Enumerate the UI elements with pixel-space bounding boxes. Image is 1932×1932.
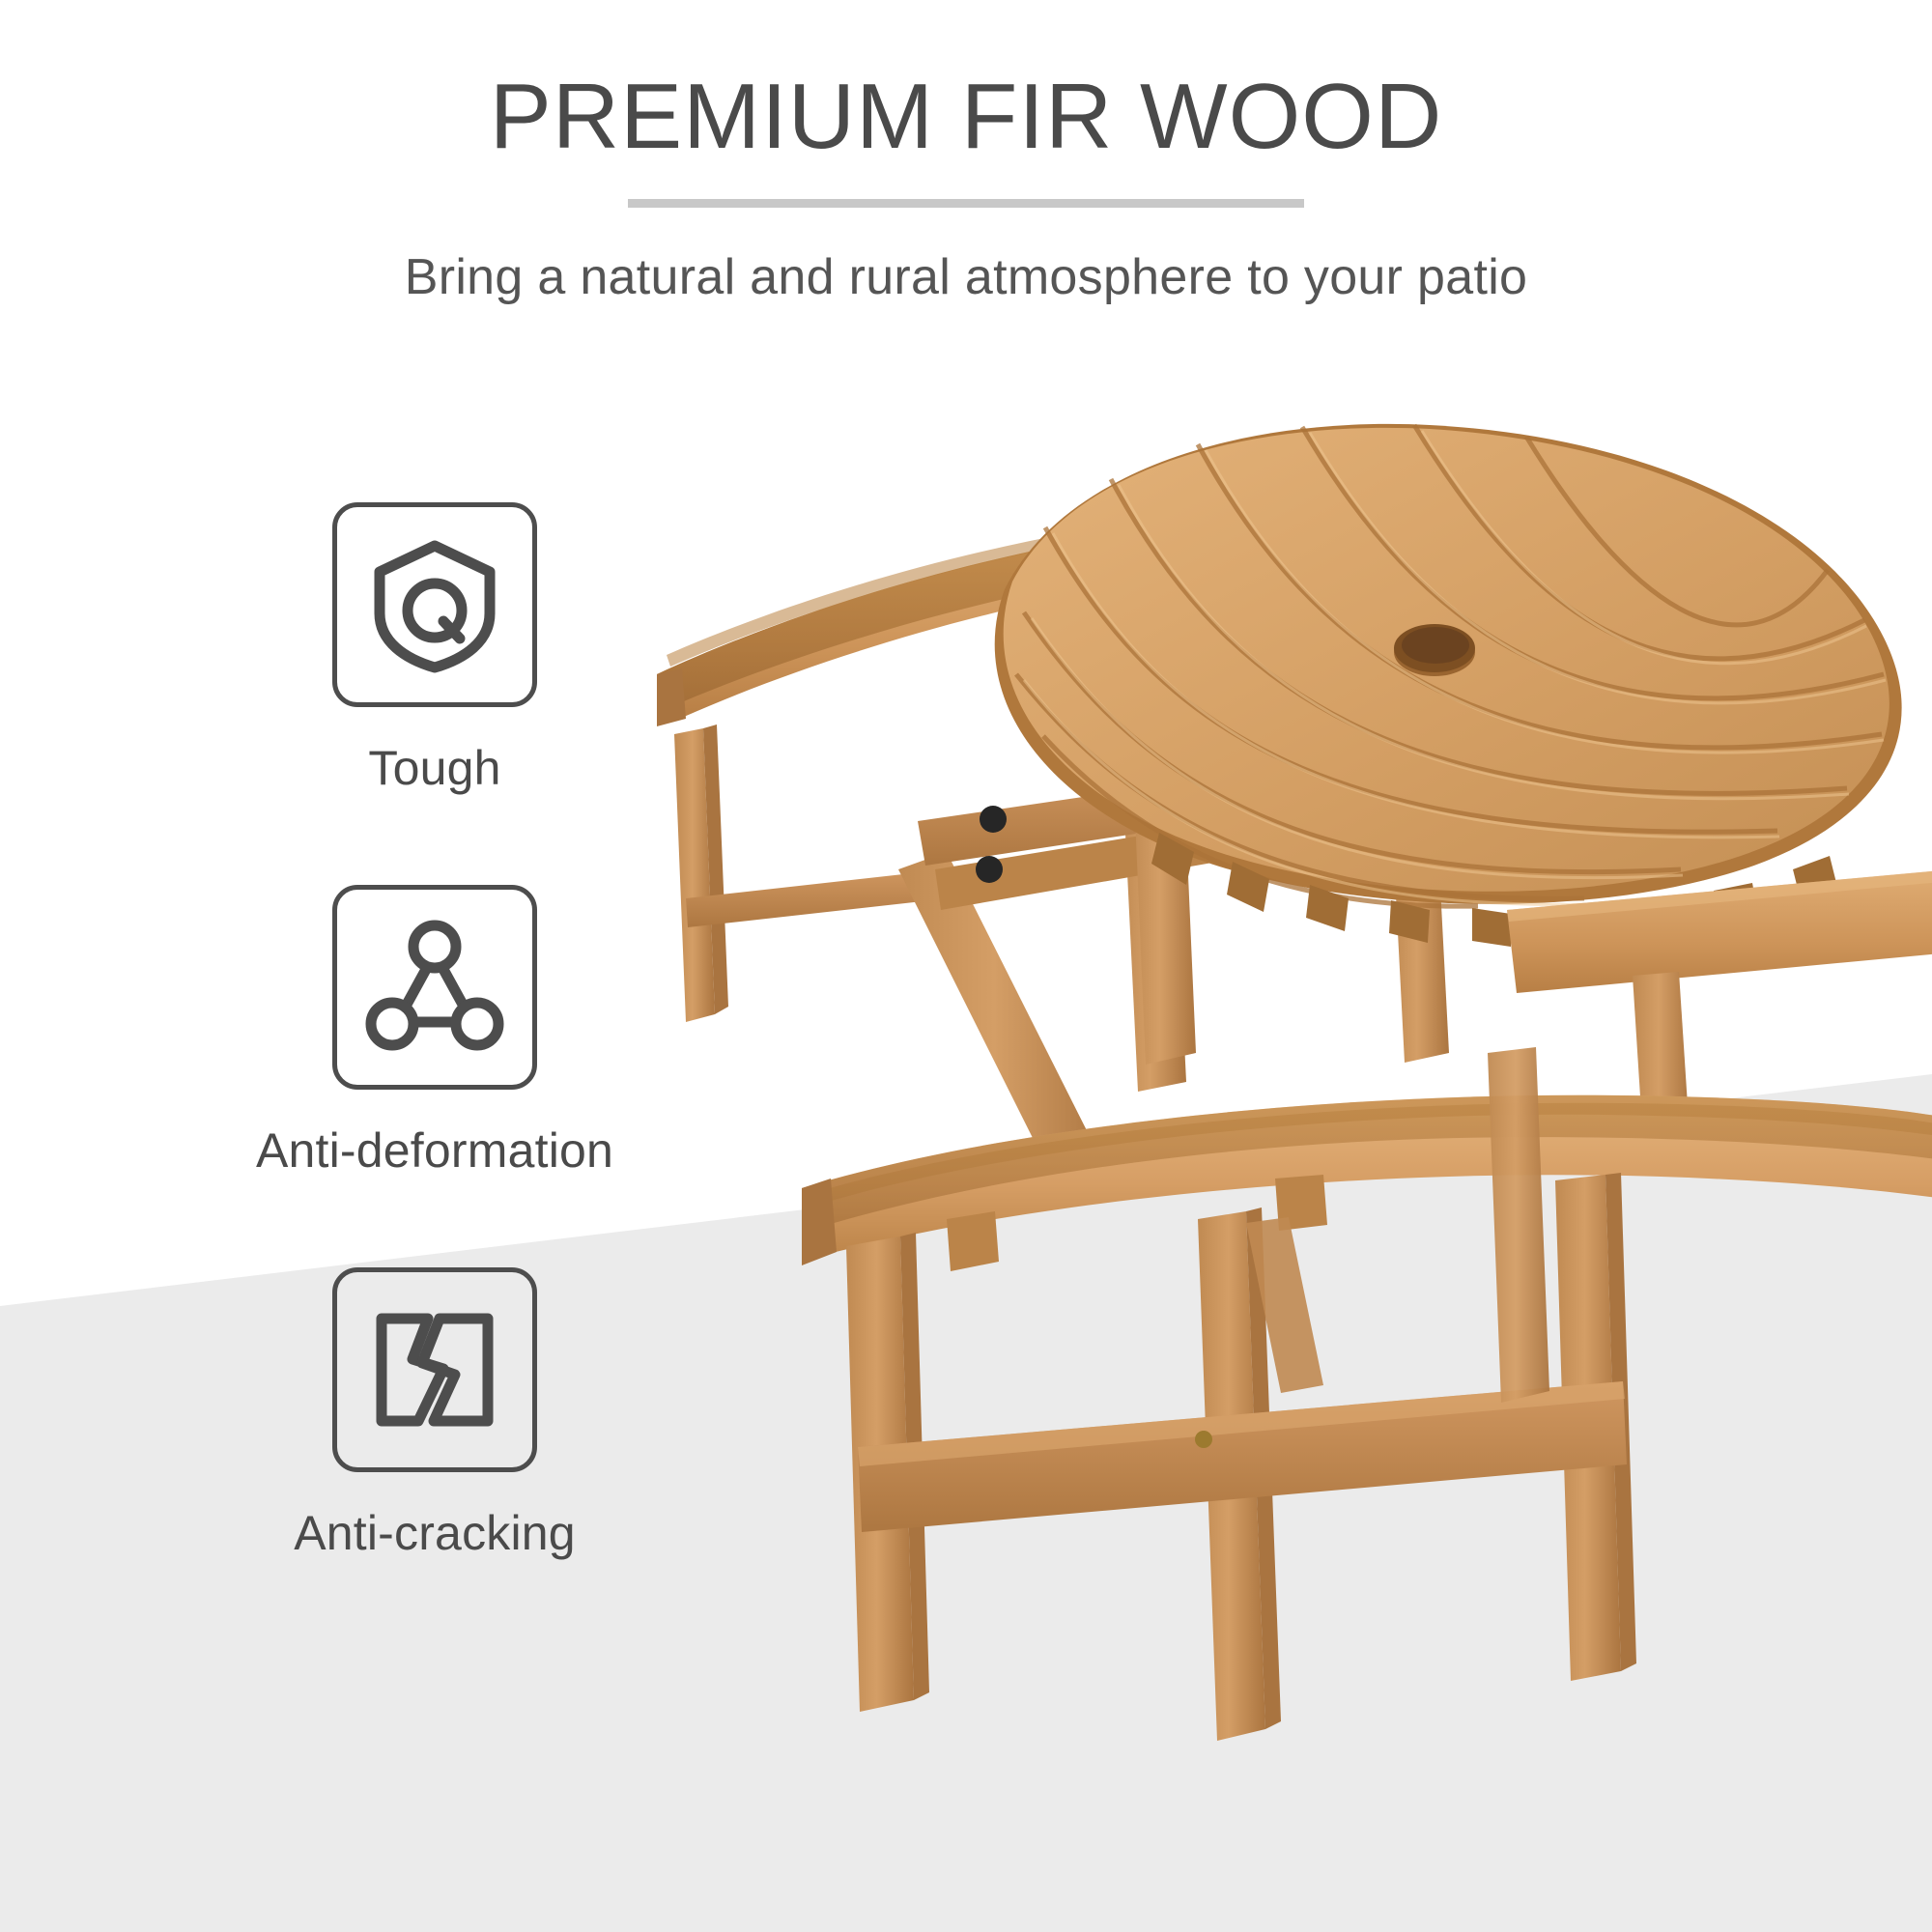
feature-label: Anti-deformation [135,1122,734,1179]
feature-list: Tough Anti-deformation [135,502,734,1650]
triangle-nodes-icon [362,915,507,1060]
feature-item-tough: Tough [135,502,734,796]
screw-head [1195,1431,1212,1448]
feature-label: Tough [135,740,734,796]
bolt-head [976,856,1003,883]
bolt-head [980,806,1007,833]
infographic-canvas: PREMIUM FIR WOOD Bring a natural and rur… [0,0,1932,1932]
feature-item-anti-cracking: Anti-cracking [135,1267,734,1561]
header: PREMIUM FIR WOOD Bring a natural and rur… [0,0,1932,306]
product-image-picnic-table [657,415,1932,1787]
feature-icon-box [332,885,537,1090]
feature-label: Anti-cracking [135,1505,734,1561]
shield-quality-icon [362,532,507,677]
title-divider [628,199,1304,208]
page-subtitle: Bring a natural and rural atmosphere to … [0,208,1932,306]
feature-icon-box [332,1267,537,1472]
page-title: PREMIUM FIR WOOD [0,0,1932,164]
front-bench [802,1095,1932,1741]
cracked-board-icon [362,1297,507,1442]
feature-item-anti-deformation: Anti-deformation [135,885,734,1179]
feature-icon-box [332,502,537,707]
